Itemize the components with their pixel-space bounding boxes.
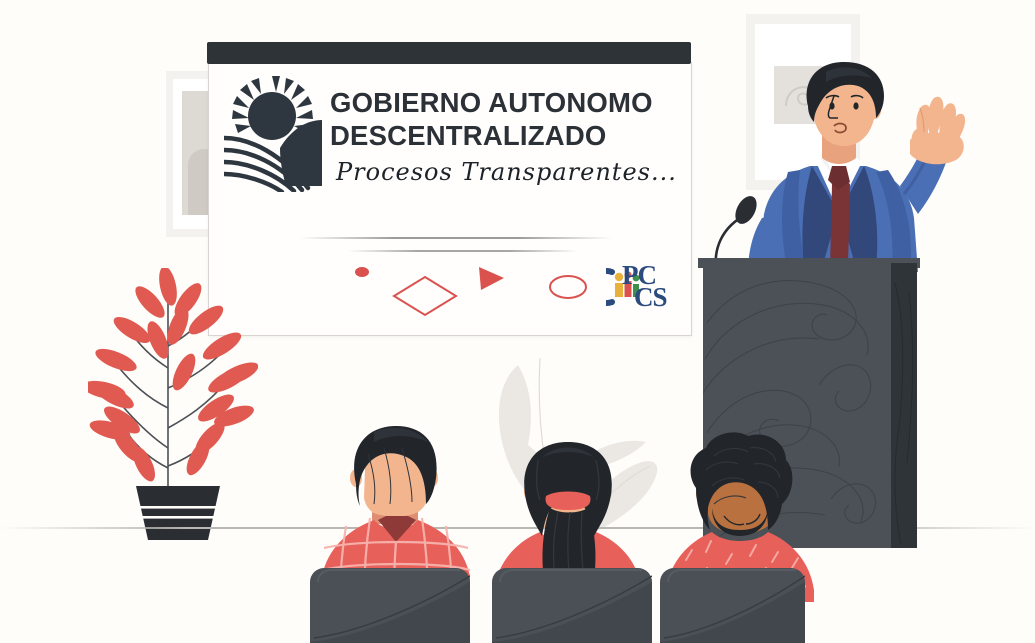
- cpccs-line2: CS: [634, 282, 667, 313]
- triangle-marker: [478, 266, 506, 292]
- diamond-marker: [392, 275, 458, 317]
- potted-plant: [88, 268, 258, 540]
- illustration-scene: GOBIERNO AUTONOMO DESCENTRALIZADO Proces…: [0, 0, 1035, 643]
- lectern-side-grain: [891, 263, 917, 548]
- gad-logo-mark: [224, 76, 334, 192]
- screen-roller-bar: [207, 42, 691, 64]
- chair-left-shading: [310, 568, 470, 643]
- slide-title-line2: DESCENTRALIZADO: [330, 119, 682, 152]
- slide-divider-1: [300, 237, 612, 239]
- slide-title: GOBIERNO AUTONOMO DESCENTRALIZADO: [330, 86, 682, 152]
- cpccs-logo-text: PC CS: [605, 263, 687, 321]
- circle-marker: [355, 267, 369, 277]
- chair-right-shading: [660, 568, 805, 643]
- slide-title-line1: GOBIERNO AUTONOMO: [330, 86, 682, 119]
- chair-center-shading: [492, 568, 652, 643]
- slide-tagline: Procesos Transparentes...: [336, 158, 682, 186]
- ellipse-marker: [548, 273, 588, 301]
- slide-divider-2: [348, 250, 578, 252]
